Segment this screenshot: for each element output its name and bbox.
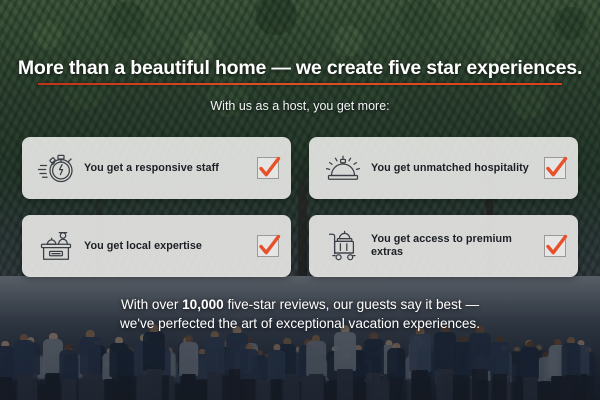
- luggage-cart-icon: [323, 226, 363, 266]
- review-count: 10,000: [182, 297, 224, 312]
- footnote-suffix: five-star reviews, our guests say it bes…: [224, 297, 479, 312]
- benefit-card[interactable]: You get unmatched hospitality: [309, 137, 578, 199]
- footnote-line-2: we've perfected the art of exceptional v…: [0, 315, 600, 334]
- checkbox-responsive-staff[interactable]: [257, 157, 279, 179]
- benefit-label: You get local expertise: [76, 240, 257, 253]
- benefit-card[interactable]: You get a responsive staff: [22, 137, 291, 199]
- footnote-line-1: With over 10,000 five-star reviews, our …: [0, 296, 600, 315]
- subheadline: With us as a host, you get more:: [0, 99, 600, 113]
- headline-underline: [38, 83, 562, 85]
- benefit-label: You get a responsive staff: [76, 162, 257, 175]
- benefit-card[interactable]: You get access to premium extras: [309, 215, 578, 277]
- benefit-card-grid: You get a responsive staff: [22, 137, 578, 277]
- footnote-prefix: With over: [121, 297, 182, 312]
- slide-content: More than a beautiful home — we create f…: [0, 0, 600, 400]
- headline: More than a beautiful home — we create f…: [0, 57, 600, 80]
- benefit-card[interactable]: You get local expertise: [22, 215, 291, 277]
- concierge-desk-icon: [36, 226, 76, 266]
- benefit-label: You get access to premium extras: [363, 233, 544, 259]
- stopwatch-icon: [36, 148, 76, 188]
- checkbox-unmatched-hospitality[interactable]: [544, 157, 566, 179]
- benefit-label: You get unmatched hospitality: [363, 162, 544, 175]
- checkbox-premium-extras[interactable]: [544, 235, 566, 257]
- slide-canvas: More than a beautiful home — we create f…: [0, 0, 600, 400]
- footnote: With over 10,000 five-star reviews, our …: [0, 296, 600, 334]
- checkbox-local-expertise[interactable]: [257, 235, 279, 257]
- service-bell-icon: [323, 148, 363, 188]
